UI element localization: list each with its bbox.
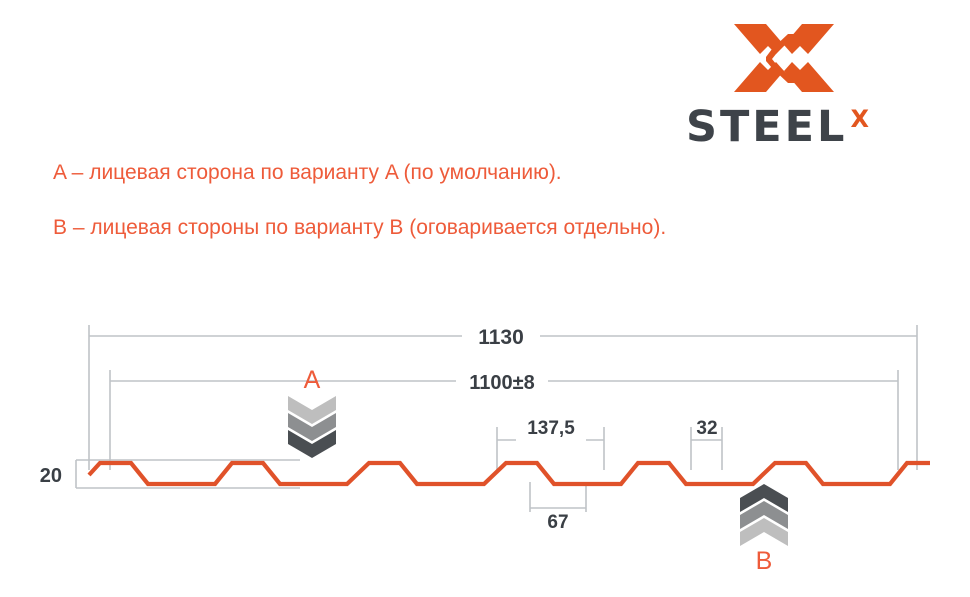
dimension-valley-width: 67: [530, 482, 586, 533]
dimension-label-20: 20: [40, 465, 62, 487]
profile-outline: [89, 463, 930, 484]
dimension-label-67: 67: [547, 512, 568, 533]
marker-b-label: B: [756, 547, 773, 575]
dimension-overall-width: 1130: [89, 325, 917, 470]
dimension-crest-top-width: 32: [691, 418, 722, 470]
dimension-label-1100: 1100±8: [469, 372, 535, 394]
marker-a: A: [288, 366, 336, 458]
dimension-label-1130: 1130: [478, 326, 524, 349]
dimension-label-32: 32: [696, 418, 717, 439]
profile-technical-drawing: 1130 1100±8 137,5 32 67 20: [0, 0, 970, 597]
dimension-useful-width: 1100±8: [110, 370, 898, 470]
dimension-label-137-5: 137,5: [527, 418, 575, 439]
marker-a-label: A: [304, 366, 321, 394]
marker-b: B: [740, 484, 788, 575]
